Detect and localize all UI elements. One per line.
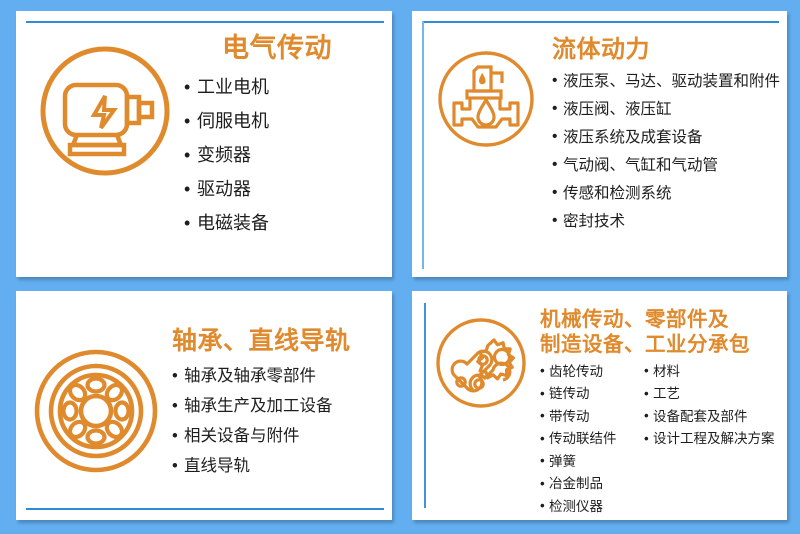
list-item: 弹簧	[540, 451, 644, 474]
list-item: 检测仪器	[540, 496, 644, 519]
card-mechanical-transmission[interactable]: 机械传动、零部件及 制造设备、工业分承包 齿轮传动 链传动 带传动 传动联结件 …	[412, 291, 787, 520]
card-cell-mechanical-transmission: 机械传动、零部件及 制造设备、工业分承包 齿轮传动 链传动 带传动 传动联结件 …	[400, 283, 800, 534]
list-item: 驱动器	[184, 172, 392, 206]
card-fluid-power[interactable]: 流体动力 液压泵、马达、驱动装置和附件 液压阀、液压缸 液压系统及成套设备 气动…	[412, 11, 787, 277]
list-item: 设备配套及部件	[644, 406, 775, 429]
hydraulic-valve-icon	[430, 37, 542, 151]
list-item: 液压系统及成套设备	[552, 124, 787, 152]
list-item: 液压泵、马达、驱动装置和附件	[552, 68, 787, 96]
list-item: 设计工程及解决方案	[644, 428, 775, 451]
card-bearings-linear-guides[interactable]: 轴承、直线导轨 轴承及轴承零部件 轴承生产及加工设备 相关设备与附件 直线导轨	[16, 291, 392, 520]
list-item: 工艺	[644, 383, 775, 406]
card-bullet-list: 轴承及轴承零部件 轴承生产及加工设备 相关设备与附件 直线导轨	[172, 361, 392, 481]
list-item: 传感和检测系统	[552, 180, 787, 208]
card-title: 流体动力	[552, 37, 787, 64]
list-item: 电磁装备	[184, 206, 392, 240]
card-bullet-list: 液压泵、马达、驱动装置和附件 液压阀、液压缸 液压系统及成套设备 气动阀、气缸和…	[552, 68, 787, 236]
electric-motor-icon	[30, 27, 180, 181]
list-item: 链传动	[540, 383, 644, 406]
list-item: 相关设备与附件	[172, 421, 392, 451]
list-item: 带传动	[540, 406, 644, 429]
card-title: 机械传动、零部件及 制造设备、工业分承包	[540, 307, 787, 358]
card-title: 电气传动	[184, 33, 392, 63]
list-item: 液压阀、液压缸	[552, 96, 787, 124]
list-item: 材料	[644, 361, 775, 384]
ball-bearing-icon	[26, 311, 166, 475]
card-cell-electric-drive: 电气传动 工业电机 伺服电机 变频器 驱动器 电磁装备	[0, 0, 400, 283]
card-electric-drive[interactable]: 电气传动 工业电机 伺服电机 变频器 驱动器 电磁装备	[16, 11, 392, 277]
list-item: 轴承及轴承零部件	[172, 361, 392, 391]
list-item: 密封技术	[552, 208, 787, 236]
list-item: 直线导轨	[172, 451, 392, 481]
card-cell-bearings: 轴承、直线导轨 轴承及轴承零部件 轴承生产及加工设备 相关设备与附件 直线导轨	[0, 283, 400, 534]
card-title: 轴承、直线导轨	[172, 327, 392, 355]
card-bullet-list-column-1: 齿轮传动 链传动 带传动 传动联结件 弹簧 冶金制品 检测仪器	[540, 361, 644, 519]
card-title-line-1: 机械传动、零部件及	[540, 307, 787, 332]
category-card-grid: 电气传动 工业电机 伺服电机 变频器 驱动器 电磁装备	[0, 0, 800, 534]
list-item: 工业电机	[184, 70, 392, 104]
list-item: 冶金制品	[540, 473, 644, 496]
card-bullet-list-column-2: 材料 工艺 设备配套及部件 设计工程及解决方案	[644, 361, 775, 451]
list-item: 变频器	[184, 138, 392, 172]
card-cell-fluid-power: 流体动力 液压泵、马达、驱动装置和附件 液压阀、液压缸 液压系统及成套设备 气动…	[400, 0, 800, 283]
list-item: 气动阀、气缸和气动管	[552, 152, 787, 180]
card-title-line-2: 制造设备、工业分承包	[540, 332, 787, 357]
card-bullet-list: 工业电机 伺服电机 变频器 驱动器 电磁装备	[184, 70, 392, 240]
list-item: 轴承生产及加工设备	[172, 391, 392, 421]
list-item: 伺服电机	[184, 104, 392, 138]
chain-gear-icon	[428, 303, 534, 413]
list-item: 传动联结件	[540, 428, 644, 451]
list-item: 齿轮传动	[540, 361, 644, 384]
